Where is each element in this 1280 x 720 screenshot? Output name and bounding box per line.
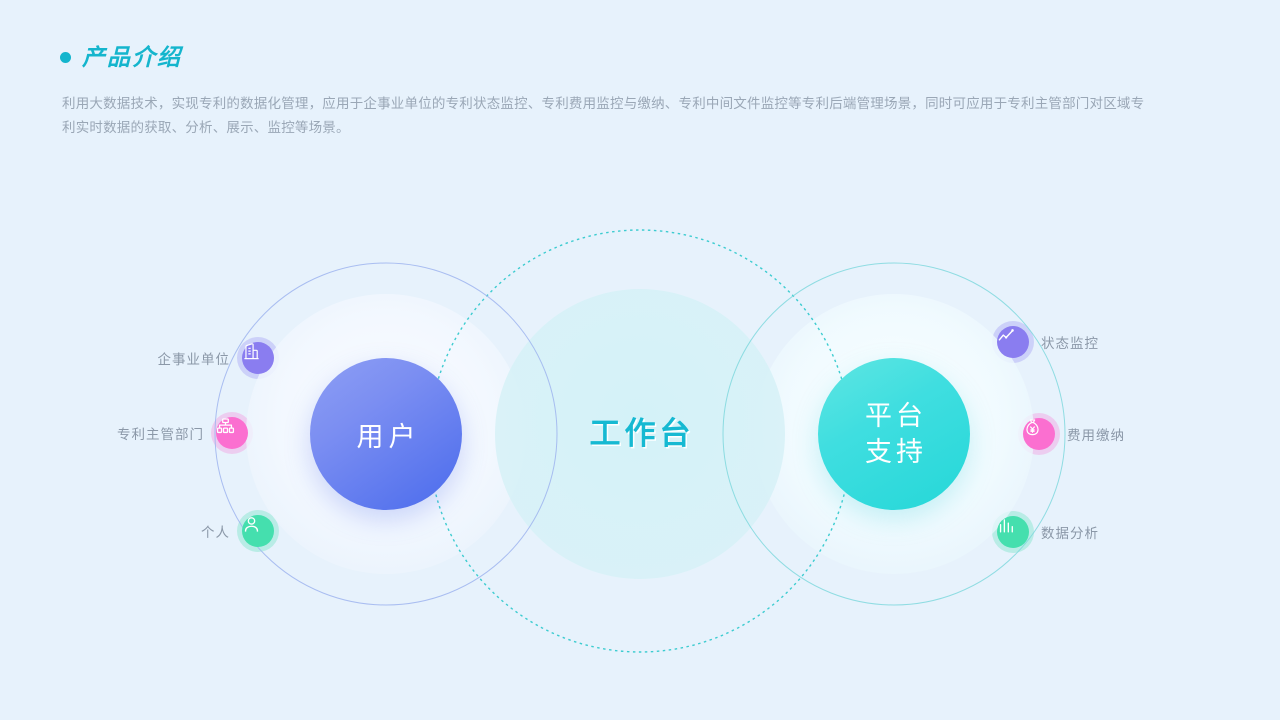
sitemap-icon	[216, 417, 248, 449]
dot-icon	[60, 52, 71, 63]
node-data-analysis-label: 数据分析	[1041, 522, 1099, 542]
node-patent-authority-label: 专利主管部门	[117, 423, 204, 443]
money-bag-icon	[1023, 418, 1055, 450]
hub-user[interactable]: 用户	[310, 358, 462, 510]
bar-chart-icon	[997, 516, 1029, 548]
hub-platform-label-line2: 支持	[861, 434, 927, 470]
hub-platform[interactable]: 平台 支持	[818, 358, 970, 510]
page-title-row: 产品介绍	[60, 46, 182, 69]
node-fee-payment[interactable]: 费用缴纳	[1023, 418, 1125, 450]
hub-workbench[interactable]: 工作台	[540, 408, 740, 453]
node-fee-payment-label: 费用缴纳	[1067, 424, 1125, 444]
node-individual-label: 个人	[201, 521, 230, 541]
hub-user-label: 用户	[352, 415, 421, 454]
intro-paragraph: 利用大数据技术，实现专利的数据化管理，应用于企事业单位的专利状态监控、专利费用监…	[62, 92, 1152, 140]
building-icon	[242, 342, 274, 374]
node-enterprise-label: 企事业单位	[158, 348, 231, 368]
node-individual[interactable]: 个人	[0, 515, 274, 547]
node-status-monitor-label: 状态监控	[1041, 332, 1099, 352]
page-title: 产品介绍	[82, 46, 182, 69]
user-icon	[242, 515, 274, 547]
node-patent-authority[interactable]: 专利主管部门	[0, 417, 248, 449]
diagram-stage: 用户 工作台 平台 支持 企事业单位 专利主管部门	[0, 160, 1280, 720]
node-status-monitor[interactable]: 状态监控	[997, 326, 1099, 358]
hub-platform-label-line1: 平台	[861, 398, 927, 434]
trend-line-icon	[997, 326, 1029, 358]
node-enterprise[interactable]: 企事业单位	[0, 342, 274, 374]
hub-workbench-label: 工作台	[590, 416, 695, 451]
node-data-analysis[interactable]: 数据分析	[997, 516, 1099, 548]
